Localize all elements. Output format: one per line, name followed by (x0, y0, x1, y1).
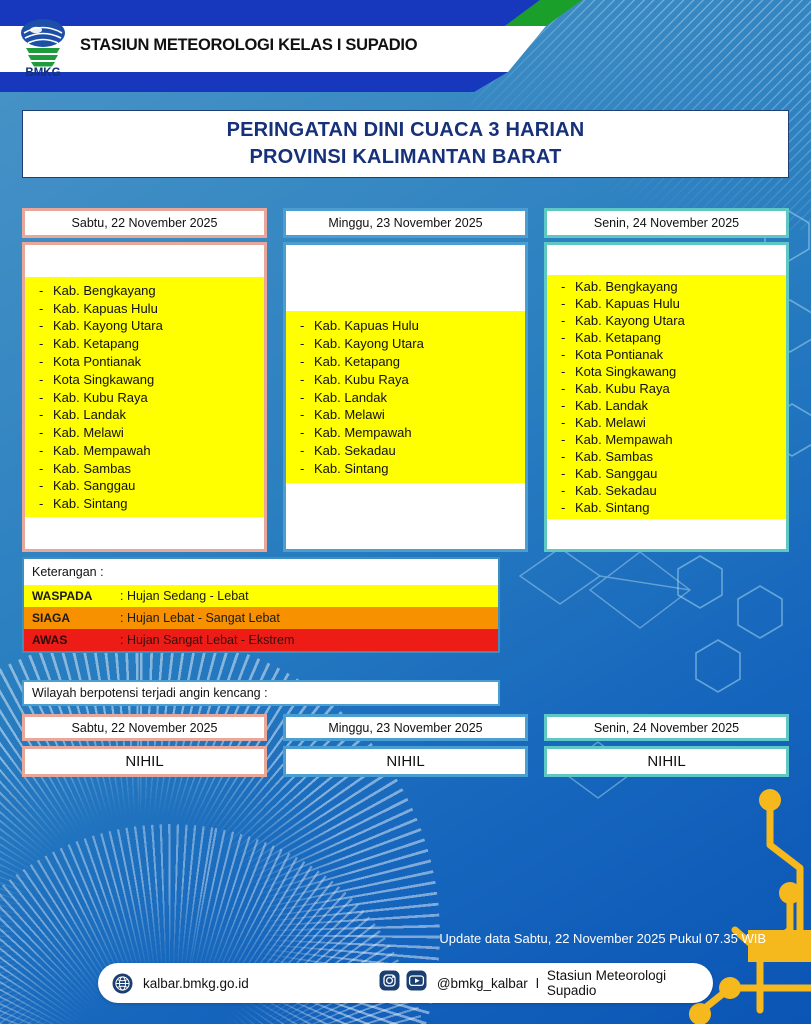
region-item: -Kab. Sekadau (286, 441, 525, 459)
update-timestamp: Update data Sabtu, 22 November 2025 Puku… (439, 931, 766, 946)
legend-row-awas: AWAS : Hujan Sangat Lebat - Ekstrem (24, 629, 498, 651)
region-bullet: - (300, 426, 314, 439)
legend-title: Keterangan : (24, 559, 498, 585)
region-item: -Kab. Landak (547, 397, 786, 414)
wind-card-2-date: Minggu, 23 November 2025 (283, 714, 528, 741)
region-bullet: - (561, 467, 575, 480)
region-bullet: - (39, 337, 53, 350)
day-card-1: Sabtu, 22 November 2025 -Kab. Bengkayang… (22, 208, 267, 552)
region-bullet: - (39, 497, 53, 510)
region-item: -Kab. Ketapang (25, 335, 264, 353)
region-bullet: - (39, 355, 53, 368)
region-name: Kab. Kapuas Hulu (575, 297, 680, 310)
region-bullet: - (561, 297, 575, 310)
region-bullet: - (561, 450, 575, 463)
region-item: -Kab. Kapuas Hulu (25, 299, 264, 317)
region-bullet: - (39, 373, 53, 386)
region-item: -Kab. Landak (286, 388, 525, 406)
region-bullet: - (561, 416, 575, 429)
region-name: Kab. Sekadau (575, 484, 657, 497)
region-bullet: - (39, 284, 53, 297)
region-item: -Kab. Sambas (25, 459, 264, 477)
day-card-3-date: Senin, 24 November 2025 (594, 216, 739, 230)
region-name: Kab. Kapuas Hulu (53, 302, 158, 315)
region-name: Kab. Sanggau (53, 479, 135, 492)
region-item: -Kab. Sekadau (547, 482, 786, 499)
region-name: Kab. Sambas (575, 450, 653, 463)
wind-card-1-value: NIHIL (22, 746, 267, 777)
region-bullet: - (561, 280, 575, 293)
region-bullet: - (561, 501, 575, 514)
region-bullet: - (39, 302, 53, 315)
legend-desc-siaga: : Hujan Lebat - Sangat Lebat (120, 611, 280, 625)
region-name: Kab. Landak (53, 408, 126, 421)
day-card-2-date: Minggu, 23 November 2025 (328, 216, 482, 230)
day-card-3-warning-block: -Kab. Bengkayang -Kab. Kapuas Hulu -Kab.… (547, 275, 786, 519)
region-item: -Kab. Melawi (286, 406, 525, 424)
region-item: -Kab. Melawi (25, 424, 264, 442)
legend-level-waspada: WASPADA (24, 589, 120, 603)
agency-name: STASIUN METEOROLOGI KELAS I SUPADIO (80, 36, 417, 55)
day-card-2: Minggu, 23 November 2025 -Kab. Kapuas Hu… (283, 208, 528, 552)
region-bullet: - (300, 355, 314, 368)
day-card-3-header: Senin, 24 November 2025 (544, 208, 789, 238)
wind-card-3: Senin, 24 November 2025 NIHIL (544, 714, 789, 777)
region-name: Kab. Melawi (53, 426, 124, 439)
region-bullet: - (561, 348, 575, 361)
legend-row-siaga: SIAGA : Hujan Lebat - Sangat Lebat (24, 607, 498, 629)
page-title-line1: PERINGATAN DINI CUACA 3 HARIAN (227, 117, 585, 144)
region-name: Kab. Kayong Utara (314, 337, 424, 350)
day-card-2-header: Minggu, 23 November 2025 (283, 208, 528, 238)
region-item: -Kab. Bengkayang (25, 281, 264, 299)
region-bullet: - (561, 484, 575, 497)
legend-level-awas: AWAS (24, 633, 120, 647)
page-header: BMKG STASIUN METEOROLOGI KELAS I SUPADIO (0, 0, 811, 92)
wind-card-3-value: NIHIL (544, 746, 789, 777)
region-item: -Kab. Sambas (547, 448, 786, 465)
region-name: Kab. Sanggau (575, 467, 657, 480)
region-item: -Kab. Kubu Raya (286, 370, 525, 388)
region-item: -Kota Singkawang (25, 370, 264, 388)
legend-desc-waspada: : Hujan Sedang - Lebat (120, 589, 249, 603)
contact-bar: kalbar.bmkg.go.id @bmkg_kalbar l (98, 963, 713, 1003)
region-bullet: - (39, 426, 53, 439)
region-item: -Kab. Ketapang (286, 353, 525, 371)
region-bullet: - (561, 399, 575, 412)
svg-text:BMKG: BMKG (25, 67, 60, 78)
day-card-3-body: -Kab. Bengkayang -Kab. Kapuas Hulu -Kab.… (544, 242, 789, 552)
region-name: Kab. Kubu Raya (575, 382, 670, 395)
region-name: Kab. Ketapang (314, 355, 400, 368)
region-item: -Kab. Mempawah (25, 441, 264, 459)
region-name: Kab. Melawi (575, 416, 646, 429)
region-bullet: - (561, 365, 575, 378)
wind-card-2-value: NIHIL (283, 746, 528, 777)
region-name: Kab. Sintang (314, 462, 388, 475)
region-name: Kab. Bengkayang (53, 284, 156, 297)
region-name: Kota Pontianak (575, 348, 663, 361)
region-bullet: - (561, 382, 575, 395)
region-item: -Kab. Sintang (286, 459, 525, 477)
region-name: Kab. Kapuas Hulu (314, 319, 419, 332)
youtube-icon[interactable] (406, 970, 427, 996)
day-cards-container: Sabtu, 22 November 2025 -Kab. Bengkayang… (22, 208, 789, 552)
station-name: Stasiun Meteorologi Supadio (547, 968, 699, 998)
region-bullet: - (561, 331, 575, 344)
bmkg-logo-icon: BMKG (12, 16, 74, 78)
region-item: -Kab. Kapuas Hulu (286, 317, 525, 335)
region-name: Kota Singkawang (53, 373, 154, 386)
region-name: Kota Singkawang (575, 365, 676, 378)
wind-card-2: Minggu, 23 November 2025 NIHIL (283, 714, 528, 777)
region-bullet: - (300, 462, 314, 475)
day-card-3: Senin, 24 November 2025 -Kab. Bengkayang… (544, 208, 789, 552)
region-name: Kab. Mempawah (53, 444, 151, 457)
region-item: -Kab. Mempawah (286, 424, 525, 442)
page-title-line2: PROVINSI KALIMANTAN BARAT (249, 144, 561, 171)
instagram-icon[interactable] (379, 970, 400, 996)
region-item: -Kab. Ketapang (547, 329, 786, 346)
region-item: -Kab. Melawi (547, 414, 786, 431)
region-bullet: - (300, 408, 314, 421)
region-name: Kab. Kubu Raya (53, 391, 148, 404)
region-name: Kab. Ketapang (575, 331, 661, 344)
region-bullet: - (39, 479, 53, 492)
region-bullet: - (39, 462, 53, 475)
region-name: Kab. Kayong Utara (575, 314, 685, 327)
wind-card-1-date: Sabtu, 22 November 2025 (22, 714, 267, 741)
region-name: Kab. Landak (575, 399, 648, 412)
region-bullet: - (300, 319, 314, 332)
social-handle[interactable]: @bmkg_kalbar (437, 976, 528, 991)
region-name: Kab. Ketapang (53, 337, 139, 350)
day-card-2-warning-block: -Kab. Kapuas Hulu -Kab. Kayong Utara -Ka… (286, 311, 525, 483)
region-bullet: - (300, 444, 314, 457)
region-item: -Kab. Sanggau (547, 465, 786, 482)
region-bullet: - (39, 408, 53, 421)
region-name: Kota Pontianak (53, 355, 141, 368)
title-banner: PERINGATAN DINI CUACA 3 HARIAN PROVINSI … (22, 110, 789, 178)
legend-box: Keterangan : WASPADA : Hujan Sedang - Le… (22, 557, 500, 653)
region-name: Kab. Melawi (314, 408, 385, 421)
region-name: Kab. Sintang (53, 497, 127, 510)
region-bullet: - (39, 319, 53, 332)
region-name: Kab. Sekadau (314, 444, 396, 457)
wind-section-title: Wilayah berpotensi terjadi angin kencang… (22, 680, 500, 706)
region-item: -Kab. Kapuas Hulu (547, 295, 786, 312)
wind-cards-container: Sabtu, 22 November 2025 NIHIL Minggu, 23… (22, 714, 789, 779)
region-item: -Kota Singkawang (547, 363, 786, 380)
day-card-2-body: -Kab. Kapuas Hulu -Kab. Kayong Utara -Ka… (283, 242, 528, 552)
region-item: -Kab. Sintang (25, 495, 264, 513)
region-bullet: - (300, 373, 314, 386)
globe-icon (112, 973, 133, 994)
region-bullet: - (39, 444, 53, 457)
region-name: Kab. Landak (314, 391, 387, 404)
region-name: Kab. Kayong Utara (53, 319, 163, 332)
region-name: Kab. Sintang (575, 501, 649, 514)
separator: l (536, 976, 539, 991)
region-item: -Kab. Bengkayang (547, 278, 786, 295)
region-bullet: - (300, 337, 314, 350)
region-item: -Kab. Kayong Utara (547, 312, 786, 329)
legend-row-waspada: WASPADA : Hujan Sedang - Lebat (24, 585, 498, 607)
region-name: Kab. Mempawah (575, 433, 673, 446)
region-bullet: - (300, 391, 314, 404)
day-card-1-warning-block: -Kab. Bengkayang -Kab. Kapuas Hulu -Kab.… (25, 277, 264, 516)
infographic-root: BMKG STASIUN METEOROLOGI KELAS I SUPADIO… (0, 0, 811, 1024)
legend-desc-awas: : Hujan Sangat Lebat - Ekstrem (120, 633, 294, 647)
social-icons (379, 970, 427, 996)
region-item: -Kab. Kubu Raya (547, 380, 786, 397)
region-item: -Kab. Kayong Utara (286, 335, 525, 353)
wind-card-3-date: Senin, 24 November 2025 (544, 714, 789, 741)
region-item: -Kab. Kayong Utara (25, 317, 264, 335)
region-name: Kab. Sambas (53, 462, 131, 475)
region-item: -Kab. Kubu Raya (25, 388, 264, 406)
region-bullet: - (561, 314, 575, 327)
region-item: -Kota Pontianak (547, 346, 786, 363)
region-item: -Kab. Mempawah (547, 431, 786, 448)
day-card-1-header: Sabtu, 22 November 2025 (22, 208, 267, 238)
region-item: -Kab. Landak (25, 406, 264, 424)
region-name: Kab. Mempawah (314, 426, 412, 439)
legend-level-siaga: SIAGA (24, 611, 120, 625)
wind-card-1: Sabtu, 22 November 2025 NIHIL (22, 714, 267, 777)
website-url[interactable]: kalbar.bmkg.go.id (143, 976, 249, 991)
region-name: Kab. Kubu Raya (314, 373, 409, 386)
region-item: -Kota Pontianak (25, 353, 264, 371)
region-name: Kab. Bengkayang (575, 280, 678, 293)
region-item: -Kab. Sintang (547, 499, 786, 516)
region-bullet: - (39, 391, 53, 404)
region-bullet: - (561, 433, 575, 446)
day-card-1-body: -Kab. Bengkayang -Kab. Kapuas Hulu -Kab.… (22, 242, 267, 552)
day-card-1-date: Sabtu, 22 November 2025 (72, 216, 218, 230)
region-item: -Kab. Sanggau (25, 477, 264, 495)
